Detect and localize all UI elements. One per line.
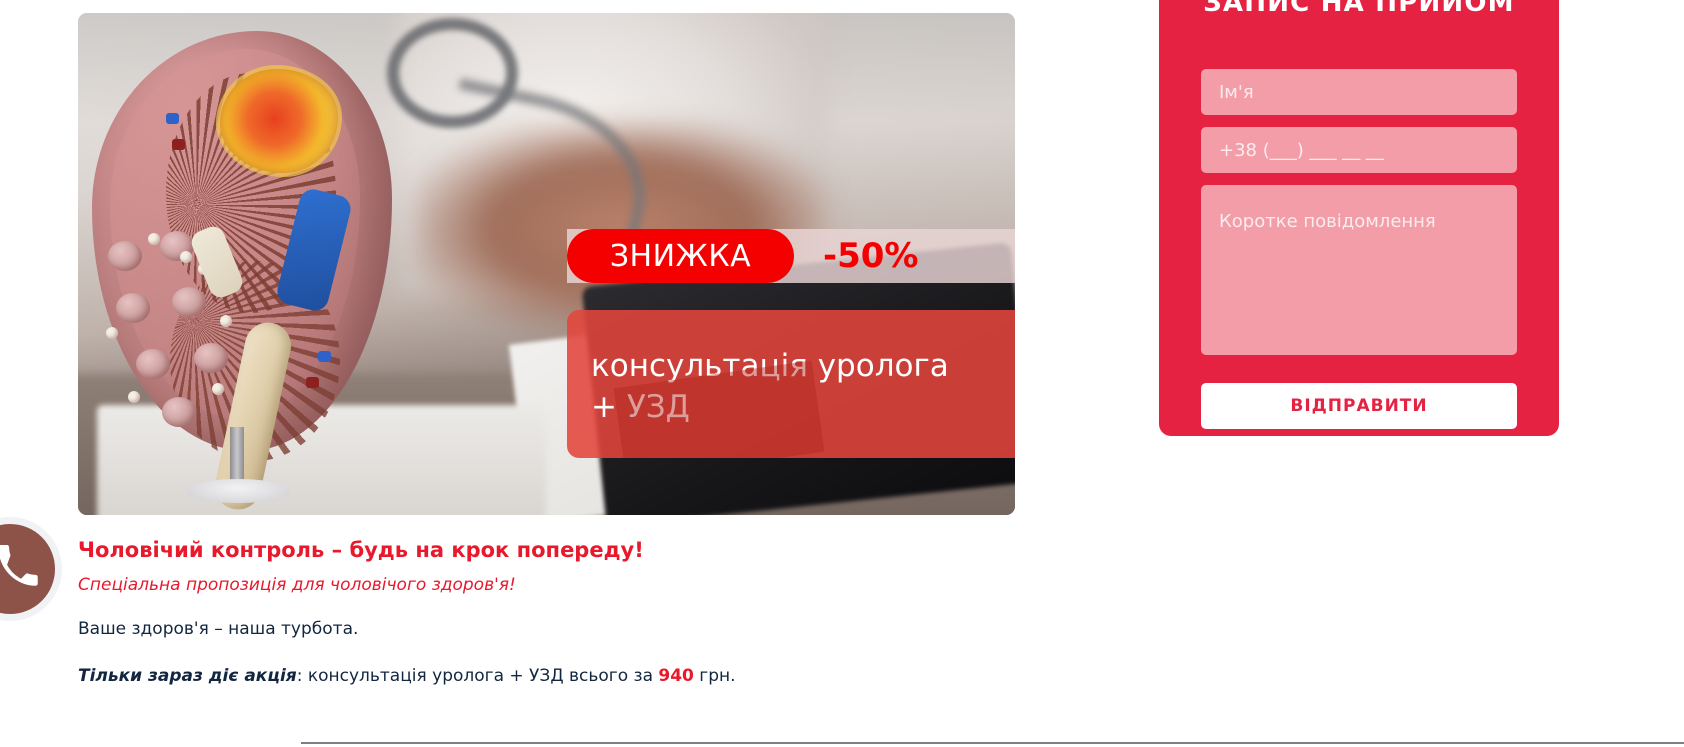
submit-button[interactable]: ВІДПРАВИТИ bbox=[1201, 383, 1517, 429]
promo-paragraph-2: Тільки зараз діє акція: консультація уро… bbox=[78, 664, 978, 690]
appointment-form-panel: ЗАПИС НА ПРИЙОМ ВІДПРАВИТИ bbox=[1159, 0, 1559, 436]
phone-handset-icon bbox=[0, 545, 32, 594]
service-description-block: консультація уролога + УЗД bbox=[567, 310, 1015, 458]
promo-tail-text: грн. bbox=[694, 666, 736, 686]
discount-value: -50% bbox=[823, 229, 919, 283]
promo-subtitle: Спеціальна пропозиція для чоловічого здо… bbox=[78, 575, 978, 595]
landing-page: ЗНИЖКА -50% консультація уролога + УЗД З… bbox=[0, 0, 1684, 747]
promo-copy: Чоловічий контроль – будь на крок попере… bbox=[78, 538, 978, 710]
promo-price: 940 bbox=[658, 666, 694, 686]
kidney-model-illustration bbox=[80, 21, 460, 515]
message-textarea[interactable] bbox=[1201, 185, 1517, 355]
form-fields: ВІДПРАВИТИ bbox=[1201, 69, 1517, 429]
promo-lead-in: Тільки зараз діє акція bbox=[78, 666, 297, 686]
callback-widget-button[interactable] bbox=[0, 517, 62, 621]
phone-input[interactable] bbox=[1201, 127, 1517, 173]
promo-paragraph-1: Ваше здоров'я – наша турбота. bbox=[78, 617, 978, 643]
promo-heading: Чоловічий контроль – будь на крок попере… bbox=[78, 538, 978, 562]
name-input[interactable] bbox=[1201, 69, 1517, 115]
promo-mid-text: : консультація уролога + УЗД всього за bbox=[297, 666, 659, 686]
discount-label: ЗНИЖКА bbox=[610, 239, 751, 274]
bottom-divider bbox=[301, 742, 1684, 744]
form-title: ЗАПИС НА ПРИЙОМ bbox=[1159, 0, 1559, 18]
discount-badge: ЗНИЖКА bbox=[567, 229, 794, 283]
promo-image-card[interactable]: ЗНИЖКА -50% консультація уролога + УЗД bbox=[78, 13, 1015, 515]
